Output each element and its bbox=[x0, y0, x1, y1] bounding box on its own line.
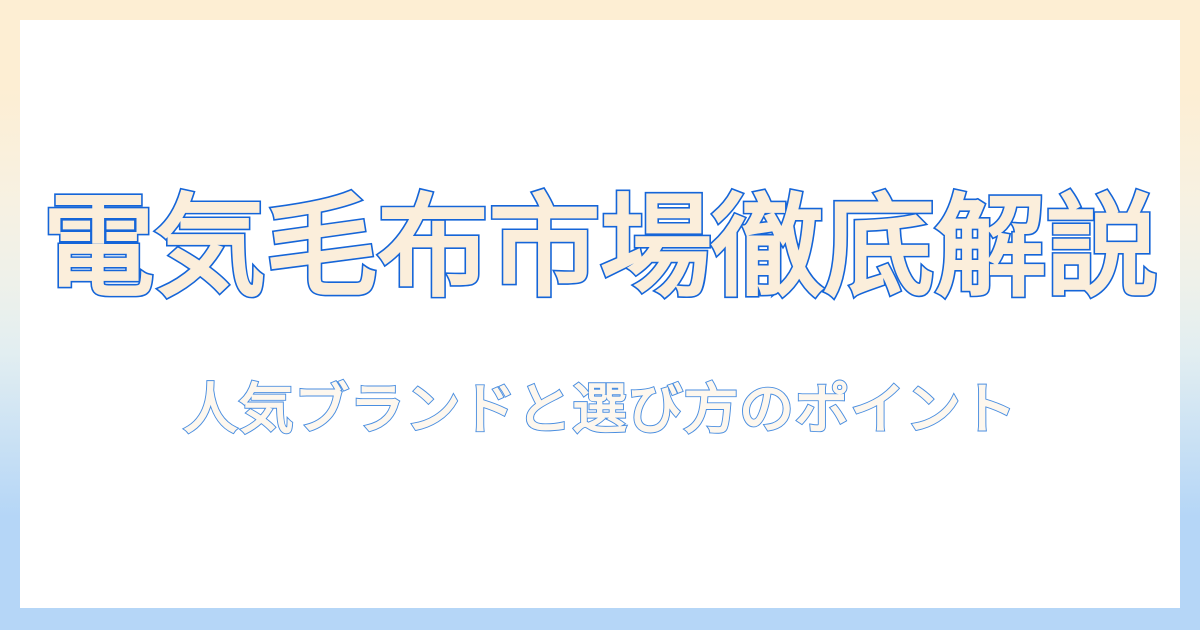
eyecatch-card: 電気毛布市場徹底解説 人気ブランドと選び方のポイント bbox=[0, 0, 1200, 630]
page-subtitle: 人気ブランドと選び方のポイント bbox=[183, 378, 1017, 441]
subtitle-row: 人気ブランドと選び方のポイント bbox=[20, 378, 1180, 441]
text-stack: 電気毛布市場徹底解説 人気ブランドと選び方のポイント bbox=[20, 20, 1180, 608]
title-row: 電気毛布市場徹底解説 bbox=[20, 188, 1180, 309]
white-panel: 電気毛布市場徹底解説 人気ブランドと選び方のポイント bbox=[20, 20, 1180, 608]
page-title: 電気毛布市場徹底解説 bbox=[43, 188, 1158, 309]
